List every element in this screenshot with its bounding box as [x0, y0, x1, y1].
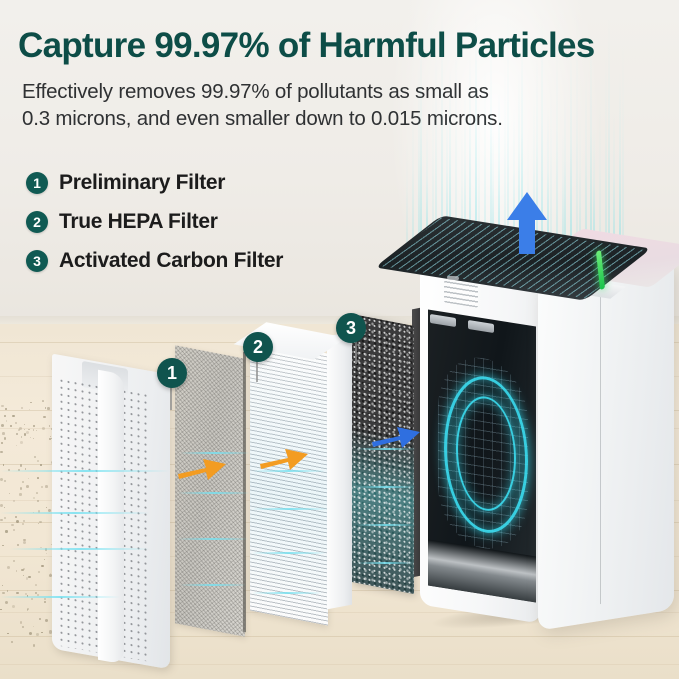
dust-particle — [19, 427, 22, 430]
list-item: 2 True HEPA Filter — [26, 202, 283, 241]
dust-particle — [30, 402, 32, 404]
dust-particle — [1, 442, 3, 444]
dust-particle — [36, 633, 39, 636]
dust-particle — [4, 437, 6, 439]
list-item: 3 Activated Carbon Filter — [26, 241, 283, 280]
legend-badge-2: 2 — [26, 211, 48, 233]
air-purifier-side-panel — [538, 261, 674, 631]
dust-particle — [0, 478, 3, 481]
dust-particle — [28, 576, 30, 578]
dust-particle — [2, 585, 3, 586]
dust-particle — [4, 517, 7, 520]
airflow-stream — [570, 52, 572, 250]
dust-particle — [23, 541, 26, 544]
panel-seam — [600, 286, 601, 604]
dust-particle — [7, 566, 10, 569]
dust-particle — [28, 478, 29, 479]
dust-particle — [11, 524, 13, 526]
floor-grain — [0, 664, 679, 665]
airflow-streak — [0, 512, 150, 514]
filtered-air-arrow — [370, 418, 424, 455]
dust-particle — [17, 544, 19, 546]
airflow-streak — [252, 508, 328, 510]
dust-particle — [13, 560, 15, 562]
airflow-streak — [178, 538, 248, 540]
airflow-stream — [556, 33, 558, 250]
airflow-stream — [599, 90, 601, 250]
dust-particle — [39, 618, 41, 620]
airflow-stream — [579, 108, 581, 250]
dust-particle — [41, 632, 42, 633]
airflow-stream — [490, 31, 492, 250]
product-infographic: Capture 99.97% of Harmful Particles Effe… — [0, 0, 679, 679]
dust-particle — [33, 438, 34, 439]
dust-particle — [28, 429, 30, 431]
airflow-streak — [356, 562, 414, 564]
dust-particle — [1, 424, 4, 427]
dust-particle — [6, 420, 7, 421]
dust-particle — [37, 477, 39, 479]
dust-particle — [0, 504, 3, 507]
mesh-texture — [175, 345, 245, 637]
dust-particle — [0, 609, 1, 610]
dust-particle — [5, 530, 7, 532]
dust-particle — [37, 500, 39, 502]
dust-particle — [11, 641, 13, 643]
dust-particle — [45, 619, 48, 622]
airflow-stream — [406, 140, 408, 250]
dust-particle — [31, 598, 32, 599]
dust-particle — [4, 480, 6, 482]
airflow-streak — [356, 524, 416, 526]
airflow-stream — [585, 71, 587, 250]
airflow-stream — [475, 12, 477, 250]
dust-particle — [26, 431, 29, 434]
dust-particle — [41, 565, 44, 568]
intake-arrow-2 — [258, 438, 312, 477]
dust-particle — [20, 441, 23, 444]
dust-particle — [16, 570, 18, 572]
dust-particle — [12, 415, 15, 418]
dust-particle — [44, 601, 46, 603]
dust-particle — [33, 626, 34, 627]
dust-particle — [44, 559, 45, 560]
dust-particle — [13, 529, 15, 531]
dust-particle — [19, 493, 21, 495]
dust-particle — [38, 523, 39, 524]
legend-label-1: Preliminary Filter — [59, 171, 225, 195]
airflow-stream — [418, 66, 420, 250]
airflow-stream — [550, 70, 552, 250]
dust-particle — [7, 633, 8, 634]
dust-particle — [15, 422, 17, 424]
dust-particle — [1, 405, 3, 407]
dust-particle — [21, 436, 22, 437]
dust-particle — [33, 425, 35, 427]
dust-particle — [5, 408, 8, 411]
preliminary-mesh-screen — [175, 345, 245, 637]
legend-label-2: True HEPA Filter — [59, 210, 218, 234]
callout-badge-2: 2 — [243, 332, 273, 362]
dust-particle — [21, 407, 23, 409]
dust-particle — [30, 437, 31, 438]
dust-particle — [16, 433, 18, 435]
airflow-streak — [356, 486, 416, 488]
dust-particle — [16, 592, 19, 595]
dust-particle — [20, 487, 23, 490]
airflow-stream — [441, 11, 443, 250]
brand-logo — [447, 276, 459, 280]
callout-badge-1: 1 — [157, 358, 187, 388]
dust-particle — [46, 553, 47, 554]
dust-particle — [43, 416, 45, 418]
dust-particle — [29, 409, 30, 410]
airflow-streak — [252, 552, 326, 554]
dust-particle — [36, 492, 38, 494]
dust-particle — [2, 545, 4, 547]
filter-compartment-cavity — [428, 309, 536, 602]
dust-particle — [45, 485, 48, 488]
airflow-stream — [590, 34, 592, 250]
airflow-stream — [412, 103, 414, 250]
dust-particle — [45, 407, 46, 408]
airflow-streak — [252, 592, 322, 594]
dust-particle — [7, 590, 9, 592]
dust-particle — [21, 569, 23, 571]
dust-particle — [39, 521, 41, 523]
callout-badge-3: 3 — [336, 313, 366, 343]
dust-particle — [16, 520, 19, 523]
dust-particle — [20, 464, 22, 466]
airflow-stream — [576, 15, 578, 250]
dust-particle — [24, 429, 25, 430]
airflow-stream — [622, 35, 624, 250]
dust-particle — [3, 464, 5, 466]
dust-particle — [33, 644, 35, 646]
airflow-stream — [564, 89, 566, 250]
dust-particle — [22, 626, 24, 628]
dust-particle — [9, 493, 10, 494]
dust-particle — [34, 456, 36, 458]
dust-particle — [4, 415, 6, 417]
legend-badge-1: 1 — [26, 172, 48, 194]
dust-particle — [41, 486, 43, 488]
dust-particle — [36, 430, 37, 431]
airflow-streak — [0, 470, 170, 472]
callout-stem-3 — [355, 340, 357, 364]
airflow-stream — [605, 53, 607, 250]
preliminary-filter-edge — [98, 370, 124, 665]
airflow-stream — [420, 29, 422, 250]
airflow-streak — [178, 492, 250, 494]
dust-particle — [42, 427, 45, 430]
dust-particle — [26, 485, 29, 488]
dust-particle — [22, 481, 23, 482]
dust-particle — [10, 425, 12, 427]
airflow-stream — [619, 72, 621, 250]
dust-particle — [23, 520, 25, 522]
dust-particle — [40, 464, 42, 466]
airflow-streak — [10, 548, 150, 550]
dust-particle — [16, 445, 17, 446]
dust-particle — [0, 451, 2, 453]
dust-particle — [49, 425, 50, 426]
dust-particle — [29, 632, 32, 635]
dust-particle — [0, 519, 2, 521]
airflow-stream — [562, 126, 564, 250]
dust-particle — [33, 429, 34, 430]
dust-particle — [37, 460, 39, 462]
dust-particle — [2, 432, 5, 435]
dust-particle — [20, 621, 22, 623]
dust-particle — [24, 424, 25, 425]
dust-particle — [47, 407, 50, 410]
true-hepa-filter-face — [250, 338, 328, 625]
legend-badge-3: 3 — [26, 250, 48, 272]
intake-arrow-1 — [176, 448, 230, 487]
dust-particle — [35, 584, 37, 586]
list-item: 1 Preliminary Filter — [26, 163, 283, 202]
dust-particle — [26, 577, 29, 580]
dust-particle — [22, 523, 24, 525]
airflow-stream — [608, 16, 610, 250]
dust-particle — [15, 516, 17, 518]
dust-particle — [44, 598, 46, 600]
dust-particle — [42, 400, 44, 402]
dust-particle — [12, 605, 15, 608]
dust-particle — [4, 507, 5, 508]
legend-label-3: Activated Carbon Filter — [59, 249, 283, 273]
dust-particle — [5, 601, 8, 604]
dust-particle — [25, 593, 26, 594]
filter-legend-list: 1 Preliminary Filter 2 True HEPA Filter … — [26, 163, 283, 280]
dust-particle — [13, 500, 15, 502]
true-hepa-filter-side — [327, 332, 352, 610]
dust-particle — [38, 571, 39, 572]
airflow-streak — [180, 584, 246, 586]
outlet-air-arrow — [505, 190, 549, 261]
dust-particle — [46, 507, 47, 508]
dust-particle — [2, 592, 5, 595]
dust-particle — [33, 497, 35, 499]
airflow-streak — [0, 596, 120, 598]
dust-particle — [23, 575, 24, 576]
airflow-stream — [613, 109, 615, 250]
hepa-airflow-wash — [250, 338, 328, 625]
